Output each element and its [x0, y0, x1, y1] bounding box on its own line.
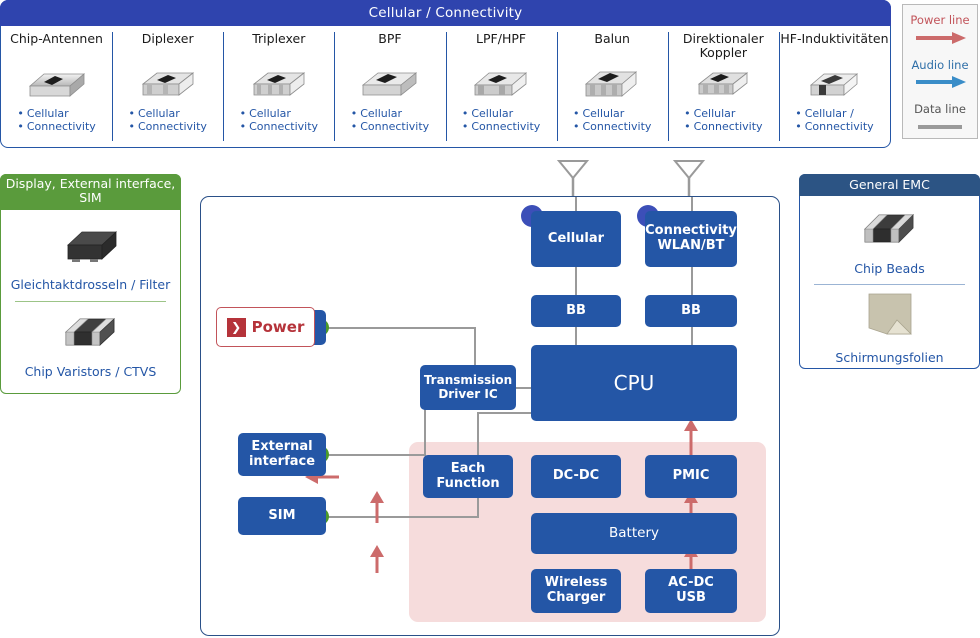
block-wireless-charger[interactable]: Wireless Charger	[531, 569, 621, 613]
component-card[interactable]: Balun Cellular Connectivity	[557, 27, 668, 147]
wire-antenna-cellular	[575, 197, 577, 211]
legend-label-power-line: Power line	[910, 14, 969, 27]
panel-title: Display, External interface, SIM	[0, 174, 181, 210]
tag: Cellular	[351, 107, 429, 120]
component-tags: Cellular Connectivity	[240, 107, 318, 134]
block-label: PMIC	[673, 469, 710, 484]
panel-item[interactable]: Gleichtaktdrosseln / Filter	[1, 219, 180, 292]
component-title: Direktionaler Koppler	[668, 32, 779, 62]
component-tags: Cellular Connectivity	[462, 107, 540, 134]
audio-line-arrow-icon	[912, 74, 968, 93]
tag: Connectivity	[351, 120, 429, 133]
tag: Cellular	[128, 107, 206, 120]
component-tags: Cellular Connectivity	[17, 107, 95, 134]
common-mode-choke-icon	[54, 219, 128, 273]
component-title: Triplexer	[252, 32, 305, 62]
system-block-diagram: Cellular Connectivity WLAN/BT BB BB CPU …	[200, 196, 780, 636]
general-emc-panel: General EMC Chip Beads Schirmungsfolien	[799, 174, 980, 369]
block-label: AC-DC USB	[668, 576, 714, 605]
tag: Cellular	[684, 107, 762, 120]
component-title: LPF/HPF	[476, 32, 526, 62]
block-cpu[interactable]: CPU	[531, 345, 737, 421]
tag: Connectivity	[573, 120, 651, 133]
tag: Connectivity	[462, 120, 540, 133]
smd-diplexer-icon	[133, 63, 203, 105]
divider	[814, 284, 965, 285]
tag: Cellular	[240, 107, 318, 120]
block-connectivity-wlan-bt[interactable]: Connectivity WLAN/BT	[645, 211, 737, 267]
component-title: Diplexer	[142, 32, 194, 62]
arrow-battery-to-dcdc	[369, 491, 385, 527]
block-label: CPU	[614, 372, 655, 394]
cellular-connectivity-panel: Cellular / Connectivity Chip-Antennen Ce…	[0, 0, 891, 148]
component-tags: Cellular Connectivity	[128, 107, 206, 134]
block-label: External interface	[249, 440, 315, 469]
item-caption: Schirmungsfolien	[835, 350, 943, 365]
block-label: SIM	[268, 509, 295, 524]
tag: Connectivity	[795, 120, 873, 133]
display-external-sim-panel: Display, External interface, SIM Gleicht…	[0, 174, 181, 394]
component-card[interactable]: Triplexer Cellular Connectivity	[223, 27, 334, 147]
smd-balun-icon	[577, 63, 647, 105]
chevron-right-icon: ❯	[227, 318, 246, 337]
component-title: BPF	[378, 32, 401, 62]
data-line-icon	[912, 119, 968, 138]
arrow-wireless-charger-to-battery	[369, 545, 385, 577]
tag: Connectivity	[684, 120, 762, 133]
panel-title: Cellular / Connectivity	[0, 0, 891, 26]
block-sim[interactable]: SIM	[238, 497, 326, 535]
tag: Cellular	[17, 107, 95, 120]
chip-varistor-icon	[54, 308, 128, 360]
panel-item[interactable]: Schirmungsfolien	[800, 290, 979, 365]
panel-title: General EMC	[799, 174, 980, 196]
tag: Connectivity	[17, 120, 95, 133]
component-tags: Cellular Connectivity	[684, 107, 762, 134]
wire-display-drop	[474, 327, 476, 367]
block-label: Wireless Charger	[545, 576, 608, 605]
wire-bb-cpu-left	[575, 327, 577, 345]
item-caption: Chip Beads	[854, 261, 924, 276]
component-tags: Cellular Connectivity	[573, 107, 651, 134]
block-pmic[interactable]: PMIC	[645, 455, 737, 498]
tag: Cellular	[462, 107, 540, 120]
component-card[interactable]: Direktionaler Koppler Cellular Connectiv…	[668, 27, 779, 147]
block-external-interface[interactable]: External interface	[238, 433, 326, 476]
item-caption: Gleichtaktdrosseln / Filter	[11, 277, 171, 292]
block-label: BB	[566, 304, 586, 319]
smd-lpf-hpf-icon	[466, 63, 536, 105]
power-line-arrow-icon	[912, 30, 968, 49]
legend: Power line Audio line Data line	[902, 4, 978, 139]
block-label: BB	[681, 304, 701, 319]
component-card[interactable]: Chip-Antennen Cellular Connectivity	[1, 27, 112, 147]
wire-sim-segment-a	[311, 516, 479, 518]
panel-item[interactable]: Chip Beads	[800, 203, 979, 276]
block-each-function[interactable]: Each Function	[423, 455, 513, 498]
power-badge[interactable]: ❯ Power	[216, 307, 315, 347]
legend-label-audio-line: Audio line	[911, 59, 968, 72]
wire-sim-segment-b	[477, 412, 537, 414]
component-card[interactable]: Diplexer Cellular Connectivity	[112, 27, 223, 147]
wire-antenna-connectivity	[691, 197, 693, 211]
smd-triplexer-icon	[244, 63, 314, 105]
block-label: Battery	[609, 526, 659, 541]
wire-display-to-driver	[311, 327, 476, 329]
legend-label-data-line: Data line	[914, 103, 966, 116]
chip-bead-icon	[851, 203, 929, 257]
smd-chip-antenna-icon	[22, 63, 92, 105]
block-label: Cellular	[548, 232, 604, 247]
component-card-list: Chip-Antennen Cellular Connectivity Dipl…	[1, 27, 890, 147]
divider	[15, 301, 166, 302]
wire-bb-cpu-right	[691, 327, 693, 345]
component-tags: Cellular / Connectivity	[795, 107, 873, 134]
component-card[interactable]: BPF Cellular Connectivity	[334, 27, 445, 147]
wire-connectivity-bb	[691, 267, 693, 295]
component-card[interactable]: LPF/HPF Cellular Connectivity	[446, 27, 557, 147]
block-label: Transmission Driver IC	[424, 374, 512, 401]
block-label: Connectivity WLAN/BT	[645, 224, 737, 253]
component-card[interactable]: HF-Induktivitäten Cellular / Connectivit…	[779, 27, 890, 147]
component-title: HF-Induktivitäten	[780, 32, 888, 62]
block-battery[interactable]: Battery	[531, 513, 737, 554]
component-tags: Cellular Connectivity	[351, 107, 429, 134]
smd-inductor-icon	[799, 63, 869, 105]
component-title: Chip-Antennen	[10, 32, 103, 62]
shielding-film-icon	[859, 290, 921, 346]
power-badge-label: Power	[252, 318, 305, 336]
wire-cellular-bb	[575, 267, 577, 295]
block-ac-dc-usb[interactable]: AC-DC USB	[645, 569, 737, 613]
tag: Cellular	[573, 107, 651, 120]
tag: Connectivity	[240, 120, 318, 133]
block-label: DC-DC	[553, 469, 599, 484]
tag: Cellular /	[795, 107, 873, 120]
smd-bpf-icon	[355, 63, 425, 105]
tag: Connectivity	[128, 120, 206, 133]
component-title: Balun	[594, 32, 630, 62]
block-transmission-driver-ic[interactable]: Transmission Driver IC	[420, 365, 516, 410]
block-bb-left[interactable]: BB	[531, 295, 621, 327]
block-bb-right[interactable]: BB	[645, 295, 737, 327]
block-cellular[interactable]: Cellular	[531, 211, 621, 267]
block-dc-dc[interactable]: DC-DC	[531, 455, 621, 498]
panel-item[interactable]: Chip Varistors / CTVS	[1, 308, 180, 379]
block-label: Each Function	[436, 462, 499, 491]
smd-coupler-icon	[688, 63, 758, 105]
item-caption: Chip Varistors / CTVS	[25, 364, 157, 379]
